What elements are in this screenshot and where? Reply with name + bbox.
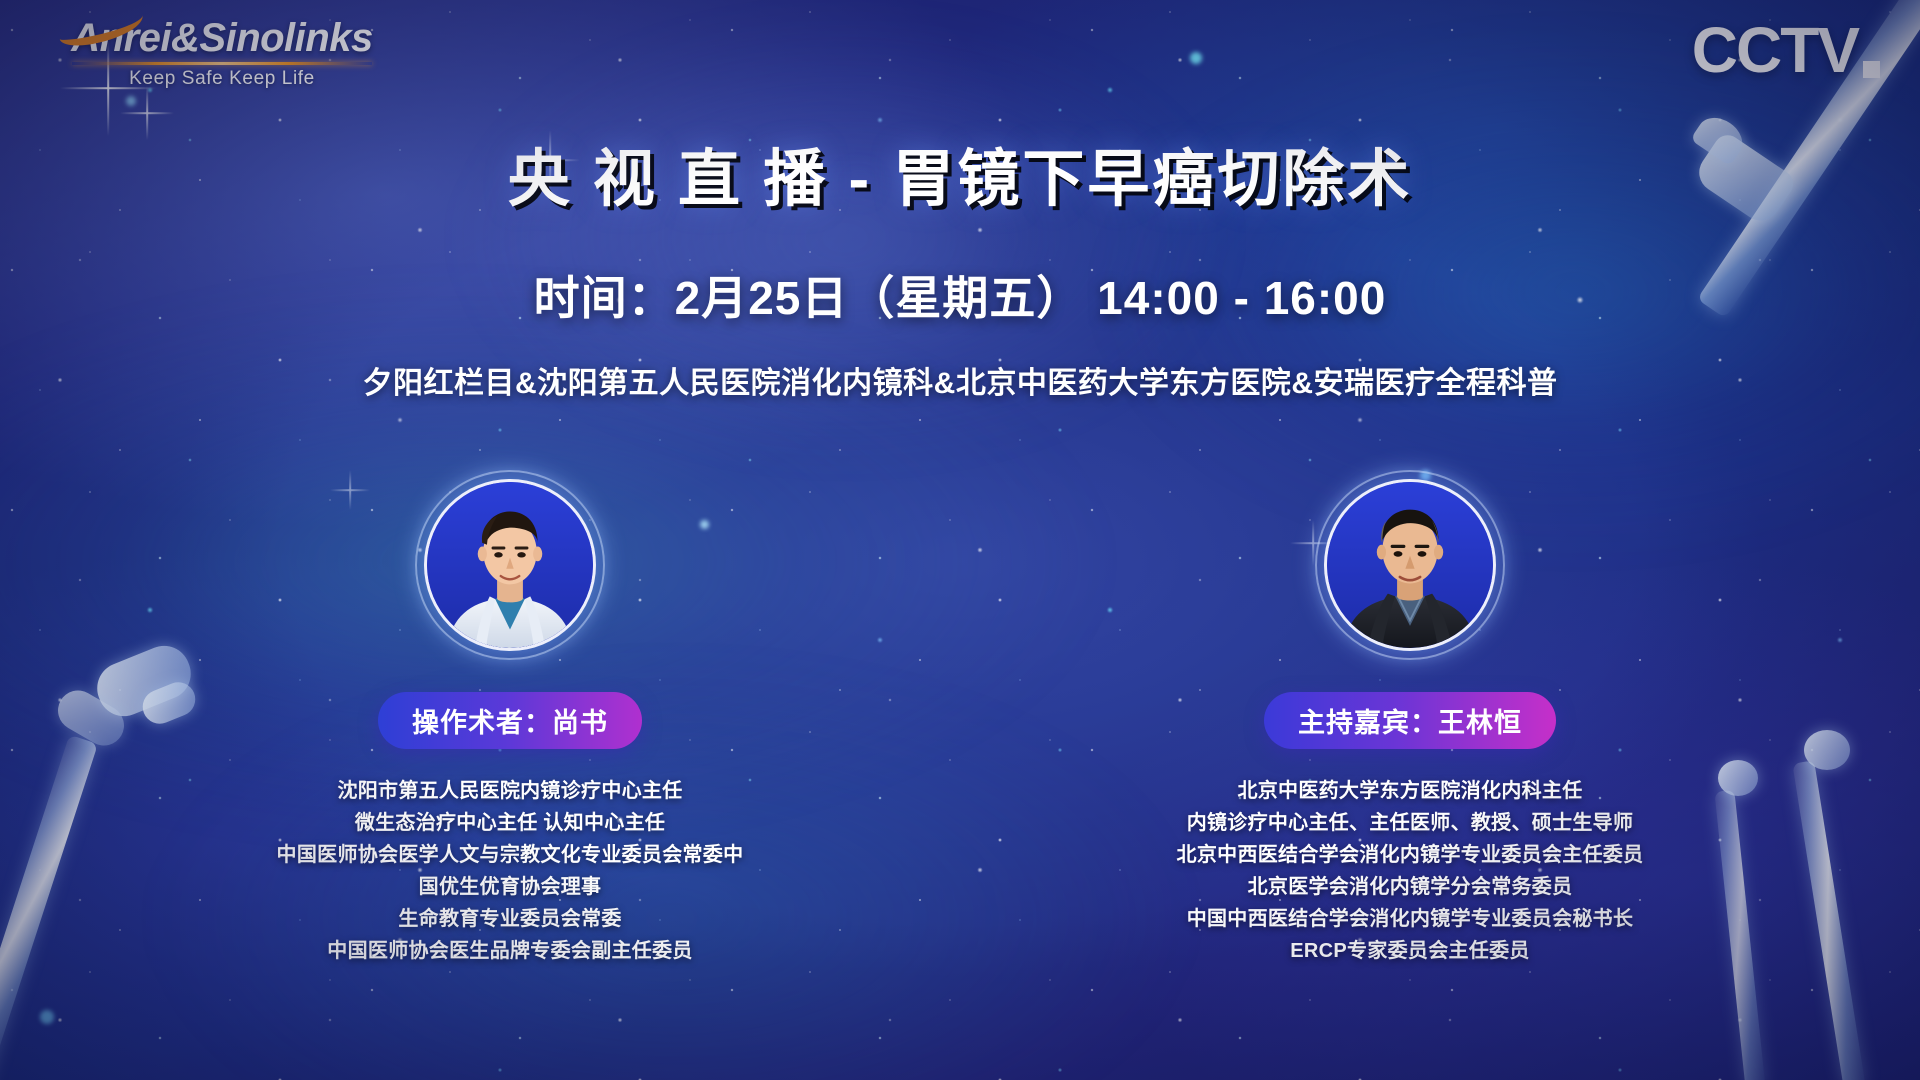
vignette-overlay	[0, 0, 1920, 1080]
poster-stage: Anrei&Sinolinks Keep Safe Keep Life CCTV…	[0, 0, 1920, 1080]
